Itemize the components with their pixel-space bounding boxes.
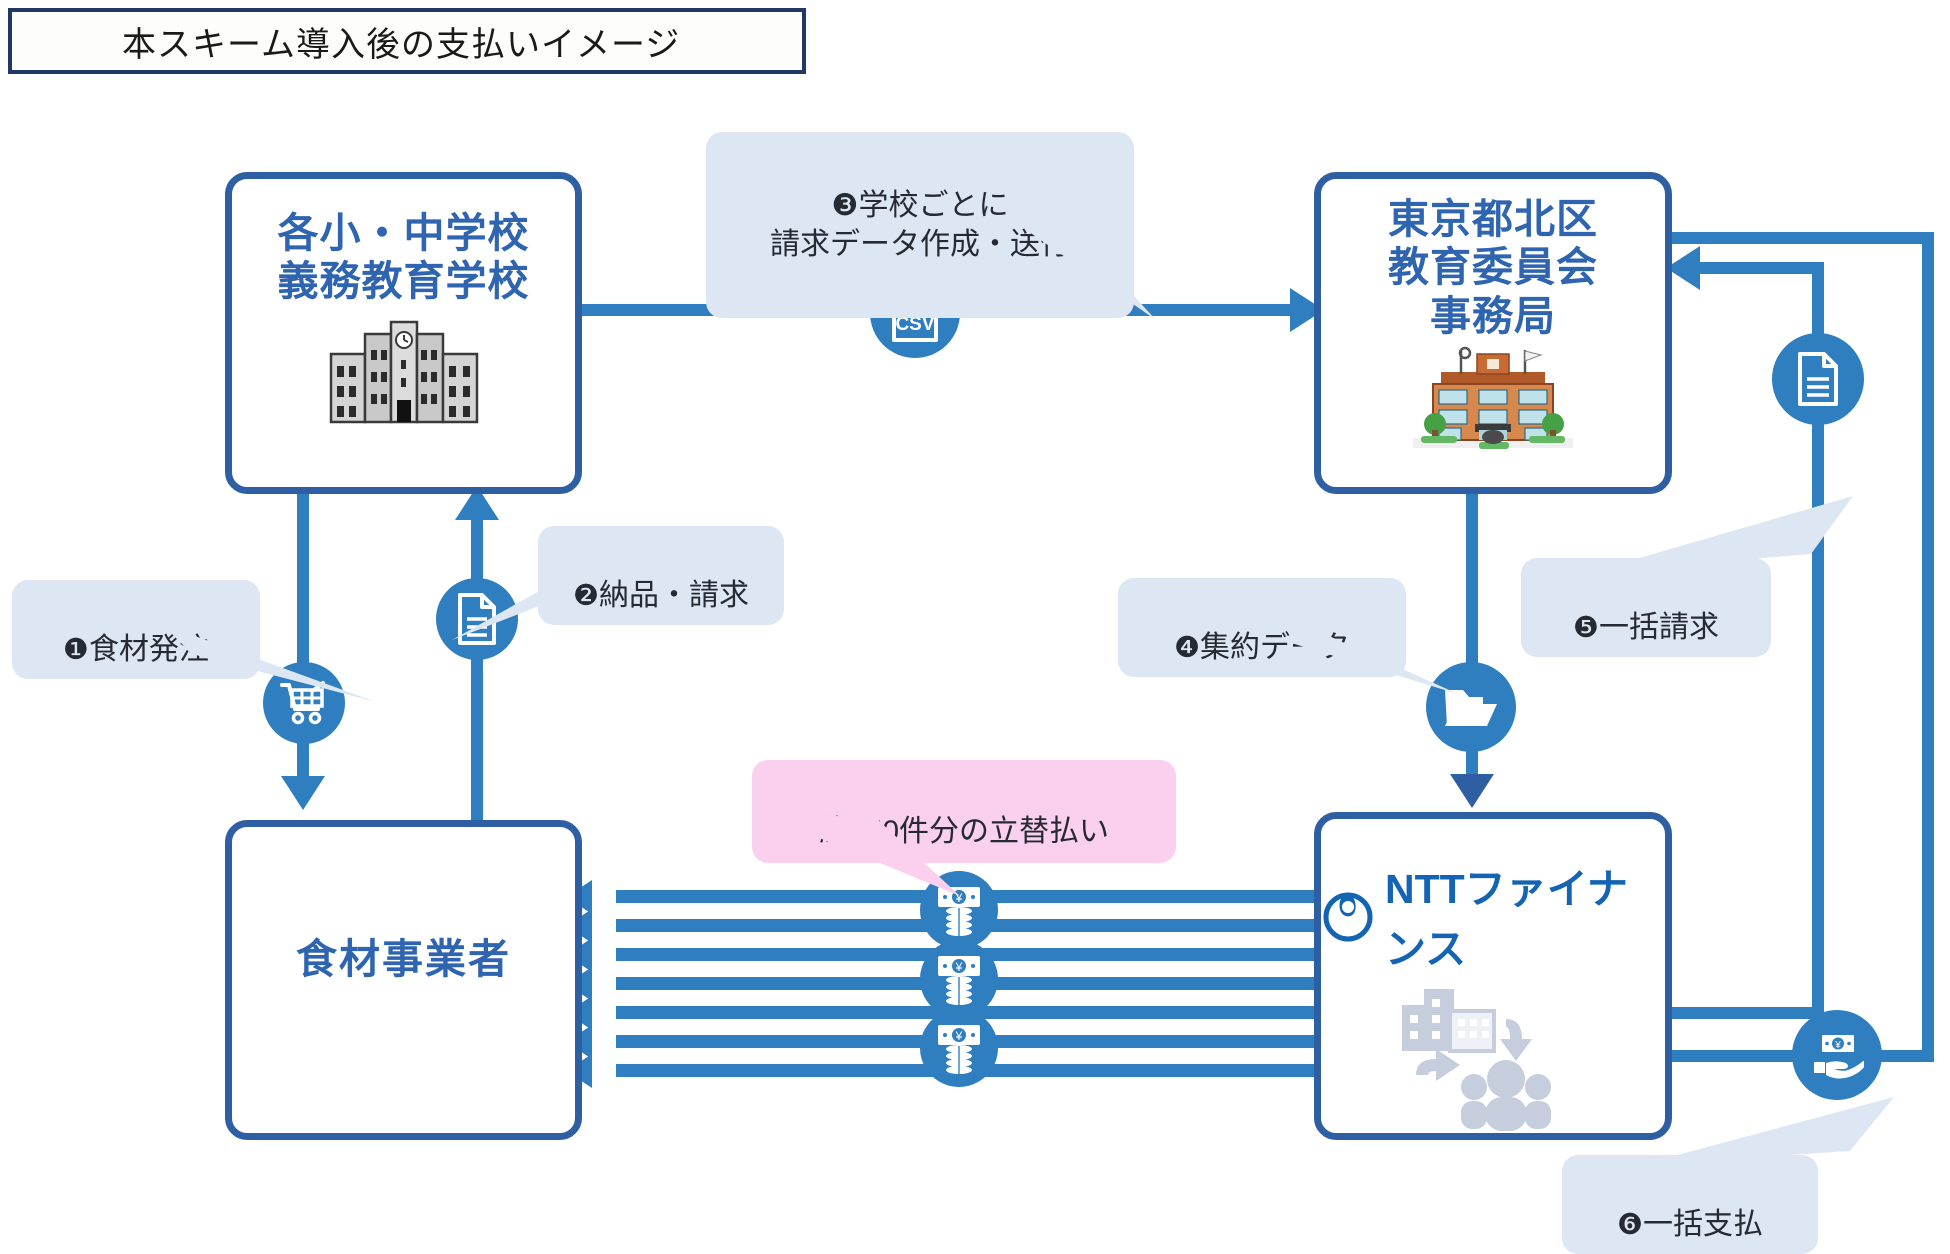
government-school-building-icon xyxy=(1413,346,1573,452)
callout-2-tail xyxy=(450,568,580,648)
entity-school-title: 各小・中学校義務教育学校 xyxy=(278,209,530,306)
callout-4-number: ❹ xyxy=(1174,632,1200,664)
yen-cash-coins-icon xyxy=(920,1009,998,1087)
callout-5-number: ❺ xyxy=(1573,612,1599,644)
yen-cash-coins-icon xyxy=(920,940,998,1018)
callout-1-number: ❶ xyxy=(63,634,89,666)
callout-3-tail xyxy=(1006,216,1166,326)
school-building-icon xyxy=(329,320,479,425)
ntt-finance-logo-text: NTTファイナンス xyxy=(1385,855,1665,975)
ntt-logo-icon xyxy=(1321,888,1375,942)
hand-holding-cash-icon: ¥ xyxy=(1792,1010,1882,1100)
callout-6-number: ❻ xyxy=(1617,1209,1643,1241)
ntt-finance-logo: NTTファイナンス xyxy=(1321,855,1665,975)
callout-2-label: 納品・請求 xyxy=(599,579,749,612)
callout-3: ❸学校ごとに請求データ作成・送付 xyxy=(706,132,1134,318)
entity-box-ntt-finance[interactable]: NTTファイナンス xyxy=(1314,812,1672,1140)
connector-ntt-invoice-h1 xyxy=(1672,1007,1824,1019)
callout-4: ❹集約データ xyxy=(1118,578,1406,677)
callout-5: ❺一括請求 xyxy=(1521,558,1771,657)
entity-vendor-title: 食材事業者 xyxy=(296,935,511,983)
connector-edu-pay-h3 xyxy=(1672,1050,1800,1062)
page-title: 本スキーム導入後の支払いイメージ xyxy=(122,17,680,66)
b2c-transfer-icon xyxy=(1388,983,1598,1131)
invoice-document-icon xyxy=(1772,333,1864,425)
entity-box-education-board[interactable]: 東京都北区教育委員会事務局 xyxy=(1314,172,1672,494)
callout-1-tail xyxy=(162,624,392,714)
callout-6-tail xyxy=(1632,1097,1922,1177)
callout-advance-payment-tail xyxy=(756,812,976,902)
connector-edu-pay-v xyxy=(1922,232,1934,1062)
callout-6: ❻一括支払 xyxy=(1562,1155,1818,1254)
callout-2: ❷納品・請求 xyxy=(538,526,784,625)
arrowhead-data-to-ntt xyxy=(1450,774,1494,808)
arrowhead-order-to-vendor xyxy=(281,776,325,810)
svg-text:¥: ¥ xyxy=(1834,1040,1841,1051)
callout-5-tail xyxy=(1581,496,1881,586)
callout-4-tail xyxy=(1288,622,1468,702)
connector-edu-pay-h1 xyxy=(1672,232,1934,244)
page-title-box: 本スキーム導入後の支払いイメージ xyxy=(8,8,806,74)
entity-box-vendor[interactable]: 食材事業者 xyxy=(225,820,582,1140)
entity-box-school[interactable]: 各小・中学校義務教育学校 xyxy=(225,172,582,494)
callout-6-label: 一括支払 xyxy=(1643,1208,1763,1241)
callout-advance-payment: 約450件分の立替払い xyxy=(752,760,1176,863)
callout-5-label: 一括請求 xyxy=(1599,611,1719,644)
callout-1: ❶食材発注 xyxy=(12,580,260,679)
entity-edu-title: 東京都北区教育委員会事務局 xyxy=(1388,195,1598,340)
connector-ntt-invoice-h2 xyxy=(1700,262,1824,274)
